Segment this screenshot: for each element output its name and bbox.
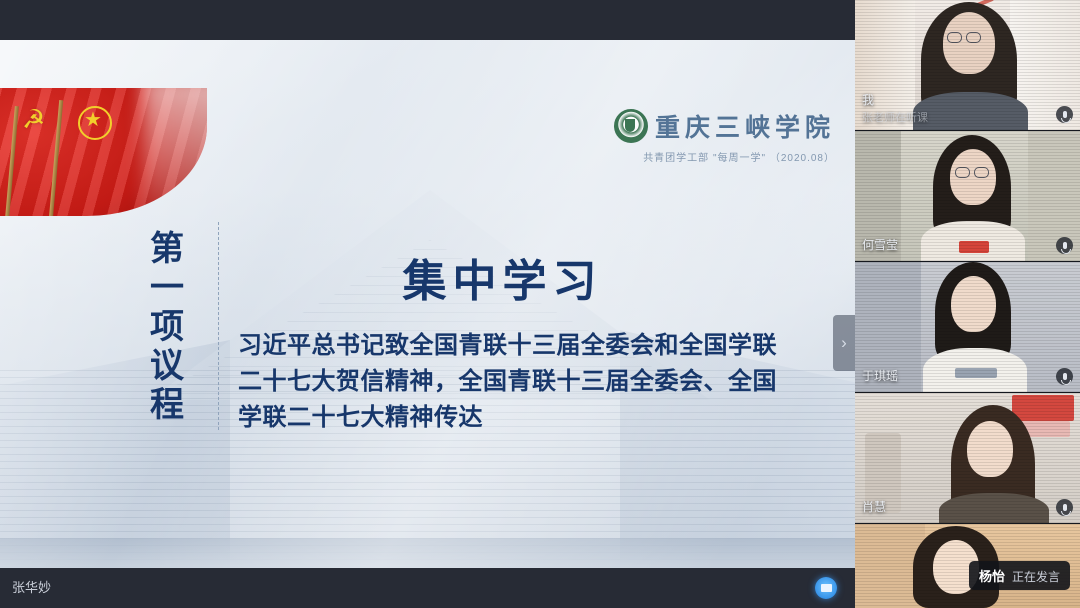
speaking-name: 杨怡 — [979, 566, 1005, 585]
chevron-right-icon[interactable]: › — [833, 315, 855, 371]
university-logo: 重庆三峡学院 共青团学工部 "每周一学" （2020.08） — [603, 108, 835, 164]
screen-share-icon[interactable] — [815, 577, 837, 599]
video-meeting-window: ☭ 重庆三峡学院 共青团学工部 "每周一学" （2020.08） 第一项议程 集… — [0, 0, 1080, 608]
mic-icon[interactable] — [1056, 106, 1073, 123]
slide-body-text: 习近平总书记致全国青联十三届全委会和全国学联二十七大贺信精神，全国青联十三届全委… — [238, 328, 798, 436]
participant-panel[interactable]: 我 张老师在听课 何雪莹 — [855, 0, 1080, 608]
participant-tile-1[interactable]: 何雪莹 — [855, 131, 1080, 261]
university-crest-icon — [614, 109, 648, 143]
presentation-slide[interactable]: ☭ 重庆三峡学院 共青团学工部 "每周一学" （2020.08） 第一项议程 集… — [0, 40, 855, 568]
video-scanline-overlay — [855, 393, 1080, 523]
slide-title: 集中学习 — [0, 245, 855, 309]
speaking-status-badge: 杨怡 正在发言 — [969, 561, 1070, 590]
red-flag-banner: ☭ — [0, 88, 207, 216]
stage-bottom-bar — [0, 568, 855, 608]
hammer-sickle-icon: ☭ — [22, 106, 45, 132]
participant-name: 何雪莹 — [862, 236, 898, 253]
participant-tile-2[interactable]: 于琪瑶 — [855, 262, 1080, 392]
university-name: 重庆三峡学院 — [655, 108, 835, 144]
participant-subtitle: 张老师在听课 — [862, 109, 928, 125]
mic-icon[interactable] — [1056, 499, 1073, 516]
participant-name: 肖慧 — [862, 498, 886, 515]
participant-name: 我 — [862, 91, 874, 108]
mic-icon[interactable] — [1056, 368, 1073, 385]
youth-league-star-icon — [78, 106, 112, 140]
participant-tile-3[interactable]: 肖慧 — [855, 393, 1080, 523]
mic-icon[interactable] — [1056, 237, 1073, 254]
participant-name: 于琪瑶 — [862, 367, 898, 384]
speaking-status: 正在发言 — [1012, 568, 1060, 585]
participant-tile-0[interactable]: 我 张老师在听课 — [855, 0, 1080, 130]
university-subtitle: 共青团学工部 "每周一学" （2020.08） — [603, 149, 835, 164]
presenter-name-label: 张华妙 — [12, 577, 51, 596]
shared-screen-stage[interactable]: ☭ 重庆三峡学院 共青团学工部 "每周一学" （2020.08） 第一项议程 集… — [0, 0, 855, 608]
